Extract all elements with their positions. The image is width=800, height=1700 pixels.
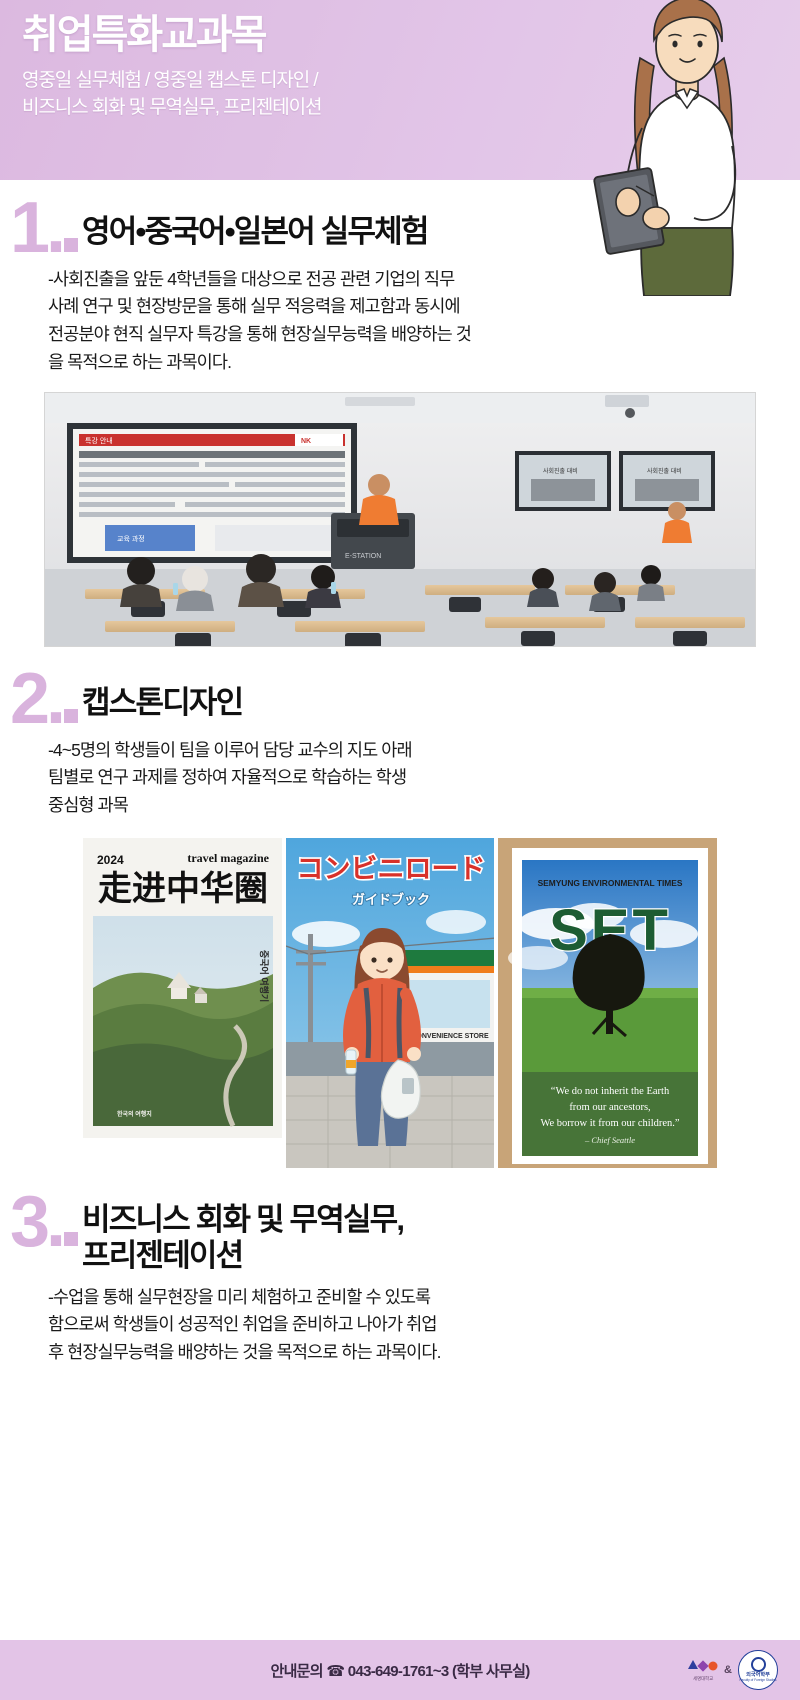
cover-c-quote-line-2: from our ancestors, [570, 1102, 651, 1113]
cover-convenience-road-art: コンビニロード ガイドブック CONVENIENCE STORE [286, 838, 495, 1168]
page-title: 취업특화교과목 [22, 14, 620, 56]
footer-contact-text: 안내문의 ☎ 043-649-1761~3 (학부 사무실) [270, 1660, 529, 1681]
svg-text:NK: NK [301, 438, 311, 445]
svg-text:특강 안내: 특강 안내 [85, 436, 113, 445]
section-2-body-line-1: -4~5명의 학생들이 팀을 이루어 담당 교수의 지도 아래 [48, 737, 800, 765]
cover-travel-magazine: 2024 travel magazine 走进中华圈 [83, 838, 282, 1138]
section-2-body-line-2: 팀별로 연구 과제를 정하여 자율적으로 학습하는 학생 [48, 764, 800, 792]
cover-c-kicker: SEMYUNG ENVIRONMENTAL TIMES [538, 878, 683, 888]
section-3-body: -수업을 통해 실무현장을 미리 체험하고 준비할 수 있도록 함으로써 학생들… [48, 1284, 800, 1367]
svg-text:사회진출 대비: 사회진출 대비 [647, 467, 682, 475]
section-2-title: 캡스톤디자인 [82, 685, 242, 727]
svg-text:교육 과정: 교육 과정 [117, 534, 145, 543]
semyung-university-logo: 세명대학교 [688, 1659, 718, 1682]
section-number-square [64, 1232, 78, 1246]
section-2-body-line-3: 중심형 과목 [48, 792, 800, 820]
cover-set-poster: SEMYUNG ENVIRONMENTAL TIMES SET “We do n… [498, 838, 717, 1168]
footer-ampersand: & [724, 1664, 732, 1676]
semyung-logo-icon [688, 1659, 718, 1675]
section-1-title: 영어•중국어•일본어 실무체험 [82, 214, 428, 256]
cover-b-subtitle: ガイドブック [352, 892, 430, 908]
section-number-square [64, 238, 78, 252]
header-text-block: 취업특화교과목 영중일 실무체험 / 영중일 캡스톤 디자인 / 비즈니스 회화… [0, 0, 620, 122]
classroom-photo: 특강 안내 NK 교육 과정 [44, 392, 756, 647]
section-2-number: 2. [10, 671, 78, 729]
section-3-body-line-3: 후 현장실무능력을 배양하는 것을 목적으로 하는 과목이다. [48, 1339, 800, 1367]
cover-travel-magazine-art: 2024 travel magazine 走进中华圈 [83, 838, 282, 1138]
magazine-covers: 2024 travel magazine 走进中华圈 [83, 838, 717, 1168]
section-1-body-line-4: 을 목적으로 하는 과목이다. [48, 349, 800, 377]
section-3-number: 3. [10, 1194, 78, 1252]
cover-a-photo-caption: 한국의 여행지 [117, 1110, 152, 1118]
section-2: 2. 캡스톤디자인 -4~5명의 학생들이 팀을 이루어 담당 교수의 지도 아… [0, 647, 800, 1168]
section-2-heading: 2. 캡스톤디자인 [0, 669, 800, 727]
section-3: 3. 비즈니스 회화 및 무역실무, 프리젠테이션 -수업을 통해 실무현장을 … [0, 1168, 800, 1367]
section-3-body-line-2: 함으로써 학생들이 성공적인 취업을 준비하고 나아가 취업 [48, 1311, 800, 1339]
section-3-title: 비즈니스 회화 및 무역실무, 프리젠테이션 [82, 1192, 403, 1274]
foreign-studies-seal-logo: 외국어학부 Faculty of Foreign Studies [738, 1650, 778, 1690]
header-subtitle-line-1: 영중일 실무체험 / 영중일 캡스톤 디자인 / [22, 68, 620, 95]
page-footer: 안내문의 ☎ 043-649-1761~3 (학부 사무실) 세명대학교 & 외… [0, 1640, 800, 1700]
cover-a-side-text: 중국어 여행기 [259, 950, 270, 1002]
cover-a-kicker: travel magazine [187, 851, 269, 865]
semyung-logo-shapes [688, 1659, 718, 1675]
svg-text:E-STATION: E-STATION [345, 553, 381, 560]
section-1-body-line-2: 사례 연구 및 현장방문을 통해 실무 적응력을 제고함과 동시에 [48, 293, 800, 321]
cover-set-poster-art: SEMYUNG ENVIRONMENTAL TIMES SET “We do n… [498, 838, 717, 1168]
semyung-logo-label: 세명대학교 [693, 1676, 713, 1682]
cover-a-year: 2024 [97, 853, 124, 867]
cover-c-quote-line-3: We borrow it from our children.” [541, 1118, 680, 1129]
seal-label-english: Faculty of Foreign Studies [739, 1679, 776, 1683]
section-3-title-line-2: 프리젠테이션 [82, 1238, 403, 1274]
cover-convenience-road: コンビニロード ガイドブック CONVENIENCE STORE [286, 838, 495, 1168]
header-subtitle-line-2: 비즈니스 회화 및 무역실무, 프리젠테이션 [22, 95, 620, 122]
woman-illustration [592, 0, 782, 296]
section-3-heading: 3. 비즈니스 회화 및 무역실무, 프리젠테이션 [0, 1192, 800, 1274]
section-2-body: -4~5명의 학생들이 팀을 이루어 담당 교수의 지도 아래 팀별로 연구 과… [48, 737, 800, 820]
section-3-title-line-1: 비즈니스 회화 및 무역실무, [82, 1202, 403, 1238]
section-1-body-line-3: 전공분야 현직 실무자 특강을 통해 현장실무능력을 배양하는 것 [48, 321, 800, 349]
cover-b-title: コンビニロード [296, 854, 485, 885]
seal-ring-icon [751, 1657, 766, 1672]
cover-b-store-sign: CONVENIENCE STORE [411, 1033, 489, 1040]
svg-text:사회진출 대비: 사회진출 대비 [543, 467, 578, 475]
section-3-body-line-1: -수업을 통해 실무현장을 미리 체험하고 준비할 수 있도록 [48, 1284, 800, 1312]
cover-c-quote-line-1: “We do not inherit the Earth [551, 1086, 670, 1097]
page-header: 취업특화교과목 영중일 실무체험 / 영중일 캡스톤 디자인 / 비즈니스 회화… [0, 0, 800, 180]
section-number-square [64, 709, 78, 723]
cover-a-title: 走进中华圈 [98, 869, 268, 909]
cover-c-attribution: – Chief Seattle [584, 1135, 635, 1145]
classroom-photo-art: 특강 안내 NK 교육 과정 [45, 393, 756, 647]
footer-logos: 세명대학교 & 외국어학부 Faculty of Foreign Studies [688, 1650, 778, 1690]
section-1-number: 1. [10, 200, 78, 258]
classroom-photo-wrap: 특강 안내 NK 교육 과정 [44, 392, 756, 647]
header-subtitle: 영중일 실무체험 / 영중일 캡스톤 디자인 / 비즈니스 회화 및 무역실무,… [22, 68, 620, 122]
